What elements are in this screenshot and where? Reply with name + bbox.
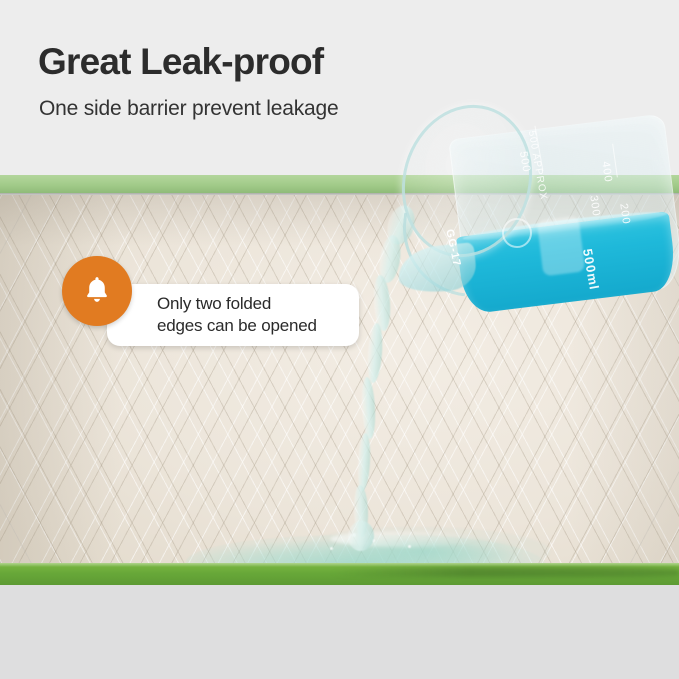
bell-icon <box>80 274 114 308</box>
beaker-label-patch <box>537 216 586 277</box>
page-subtitle: One side barrier prevent leakage <box>39 96 338 121</box>
mat-barrier-wet-shadow <box>330 567 679 577</box>
glass-beaker: 500 400 300 200 500 APPROX GG-17 500ml <box>398 96 679 301</box>
stream-segment <box>360 377 376 440</box>
callout: Only two folded edges can be opened <box>62 256 362 352</box>
product-image-stage: Great Leak-proof One side barrier preven… <box>0 0 679 679</box>
callout-card: Only two folded edges can be opened <box>107 284 359 346</box>
footer-background <box>0 585 679 679</box>
page-title: Great Leak-proof <box>38 42 323 83</box>
stream-segment <box>366 323 384 384</box>
beaker-seal-icon <box>502 218 532 248</box>
callout-badge <box>62 256 132 326</box>
callout-text: Only two folded edges can be opened <box>157 293 317 337</box>
stream-segment <box>356 433 371 492</box>
stream-splash-head <box>347 520 376 553</box>
